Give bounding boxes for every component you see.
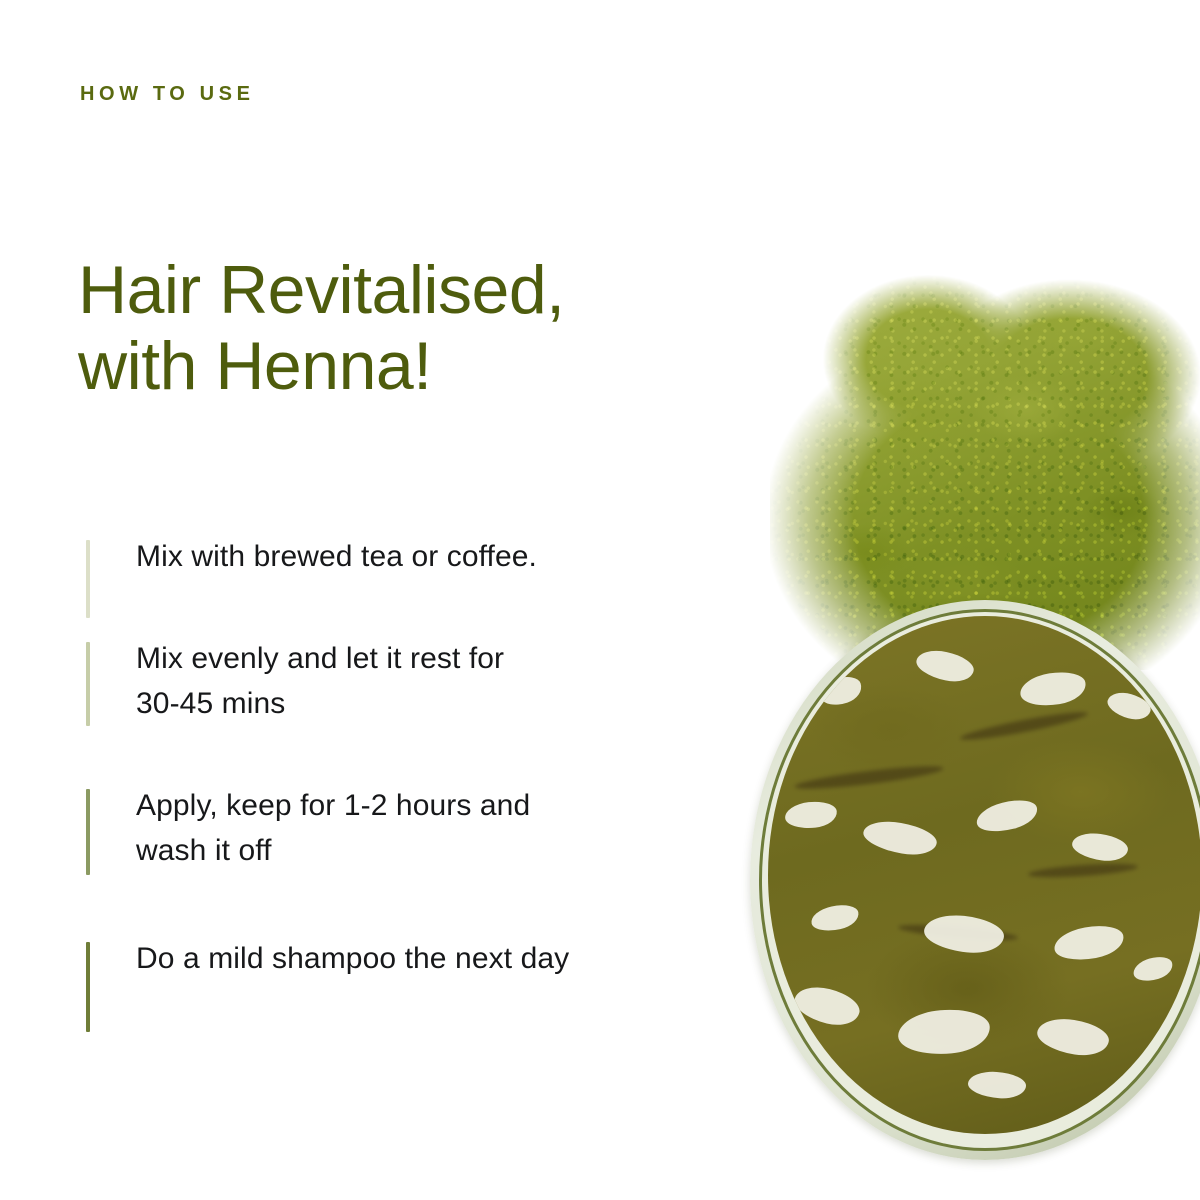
henna-paste [768, 616, 1200, 1134]
paste-patch [1070, 830, 1129, 864]
paste-patch [809, 901, 861, 934]
step-text: Do a mild shampoo the next day [136, 936, 686, 982]
step-text: Mix evenly and let it rest for 30-45 min… [136, 636, 686, 727]
paste-streak [794, 762, 944, 793]
headline-line-1: Hair Revitalised, [78, 252, 565, 328]
paste-patch [784, 800, 838, 831]
paste-patch [913, 647, 976, 686]
headline-line-2: with Henna! [78, 328, 565, 404]
paste-patch [1052, 921, 1126, 965]
paste-patch [861, 817, 939, 859]
paste-streak [1028, 861, 1138, 880]
glass-bowl [750, 600, 1200, 1160]
step-accent-bar [86, 642, 90, 726]
step-accent-bar [86, 942, 90, 1032]
steps-list: Mix with brewed tea or coffee. Mix evenl… [86, 534, 686, 982]
list-item: Mix with brewed tea or coffee. [86, 534, 686, 580]
step-accent-bar [86, 789, 90, 875]
paste-streak [959, 707, 1089, 744]
step-accent-bar [86, 540, 90, 618]
paste-patch [967, 1070, 1027, 1100]
step-text: Apply, keep for 1-2 hours and wash it of… [136, 783, 686, 874]
paste-patch [974, 795, 1041, 837]
page-title: Hair Revitalised, with Henna! [78, 252, 565, 404]
list-item: Do a mild shampoo the next day [86, 936, 686, 982]
list-item: Apply, keep for 1-2 hours and wash it of… [86, 783, 686, 874]
eyebrow-label: HOW TO USE [80, 84, 255, 104]
paste-patch [1018, 668, 1088, 710]
step-text: Mix with brewed tea or coffee. [136, 534, 686, 580]
product-photo [690, 250, 1200, 1200]
paste-patch [1130, 953, 1175, 985]
paste-patch [1035, 1015, 1111, 1060]
list-item: Mix evenly and let it rest for 30-45 min… [86, 636, 686, 727]
paste-patch [923, 912, 1006, 956]
paste-patch [896, 1006, 991, 1058]
how-to-use-graphic: HOW TO USE Hair Revitalised, with Henna!… [0, 0, 1200, 1200]
